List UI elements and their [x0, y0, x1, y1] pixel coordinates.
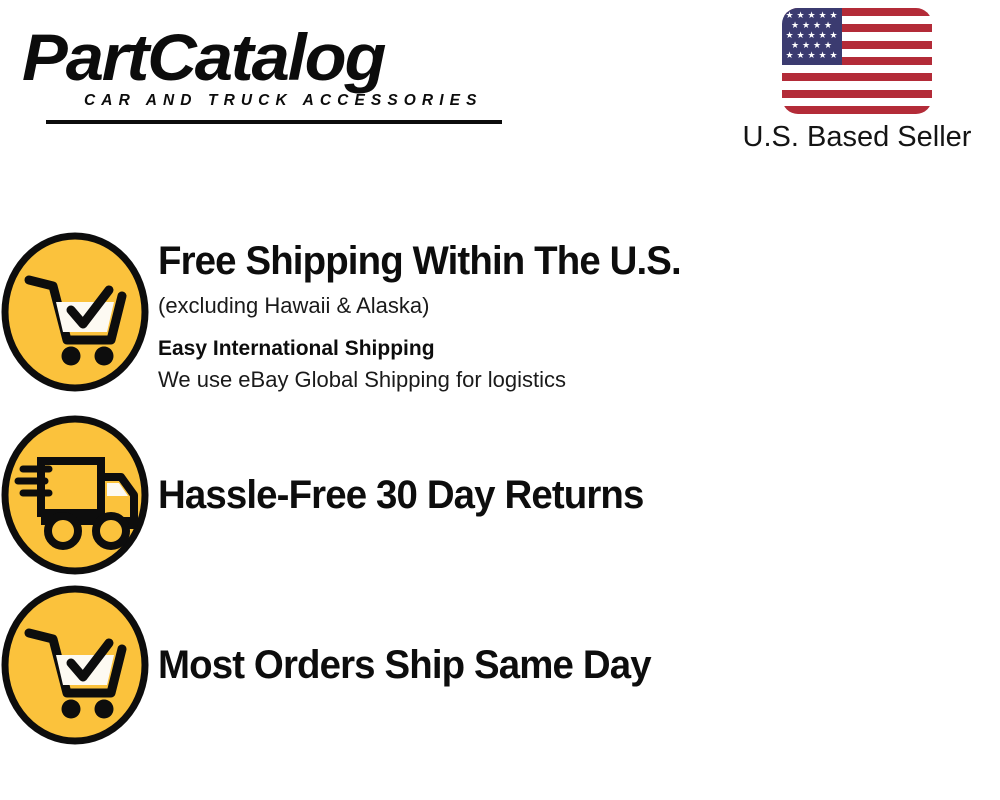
brand-underline-rule [46, 120, 502, 124]
cart-check-icon [1, 585, 149, 745]
feature-secondary-title: Easy International Shipping [158, 335, 1000, 362]
feature-row: Hassle-Free 30 Day Returns [0, 415, 1000, 575]
feature-row: Free Shipping Within The U.S. (excluding… [0, 232, 1000, 395]
feature-icon-wrapper [0, 415, 150, 575]
us-based-seller-badge: ★ ★ ★ ★ ★ ★ ★ ★ ★ ★ ★ ★ ★ ★ ★ ★ ★ ★ ★ ★ [726, 8, 988, 154]
us-based-seller-label: U.S. Based Seller [726, 120, 988, 154]
delivery-truck-icon [1, 415, 149, 575]
feature-secondary-subtitle: We use eBay Global Shipping for logistic… [158, 365, 1000, 395]
brand-tagline: CAR AND TRUCK ACCESSORIES [84, 92, 483, 110]
feature-icon-wrapper [0, 232, 150, 392]
feature-text-block: Free Shipping Within The U.S. (excluding… [150, 232, 1000, 395]
feature-icon-wrapper [0, 585, 150, 745]
feature-title: Free Shipping Within The U.S. [158, 238, 966, 284]
flag-canton: ★ ★ ★ ★ ★ ★ ★ ★ ★ ★ ★ ★ ★ ★ ★ ★ ★ ★ ★ ★ [782, 8, 842, 65]
feature-title: Hassle-Free 30 Day Returns [158, 472, 644, 518]
feature-subtitle: (excluding Hawaii & Alaska) [158, 291, 1000, 321]
feature-text-block: Most Orders Ship Same Day [150, 585, 1000, 745]
us-flag-icon: ★ ★ ★ ★ ★ ★ ★ ★ ★ ★ ★ ★ ★ ★ ★ ★ ★ ★ ★ ★ [782, 8, 932, 114]
brand-logo[interactable]: PartCatalog CAR AND TRUCK ACCESSORIES [22, 22, 492, 114]
page-header: PartCatalog CAR AND TRUCK ACCESSORIES ★ … [0, 0, 1000, 175]
feature-text-block: Hassle-Free 30 Day Returns [150, 415, 1000, 575]
feature-row: Most Orders Ship Same Day [0, 585, 1000, 745]
feature-title: Most Orders Ship Same Day [158, 642, 651, 688]
brand-wordmark: PartCatalog [22, 22, 511, 92]
cart-check-icon [1, 232, 149, 392]
